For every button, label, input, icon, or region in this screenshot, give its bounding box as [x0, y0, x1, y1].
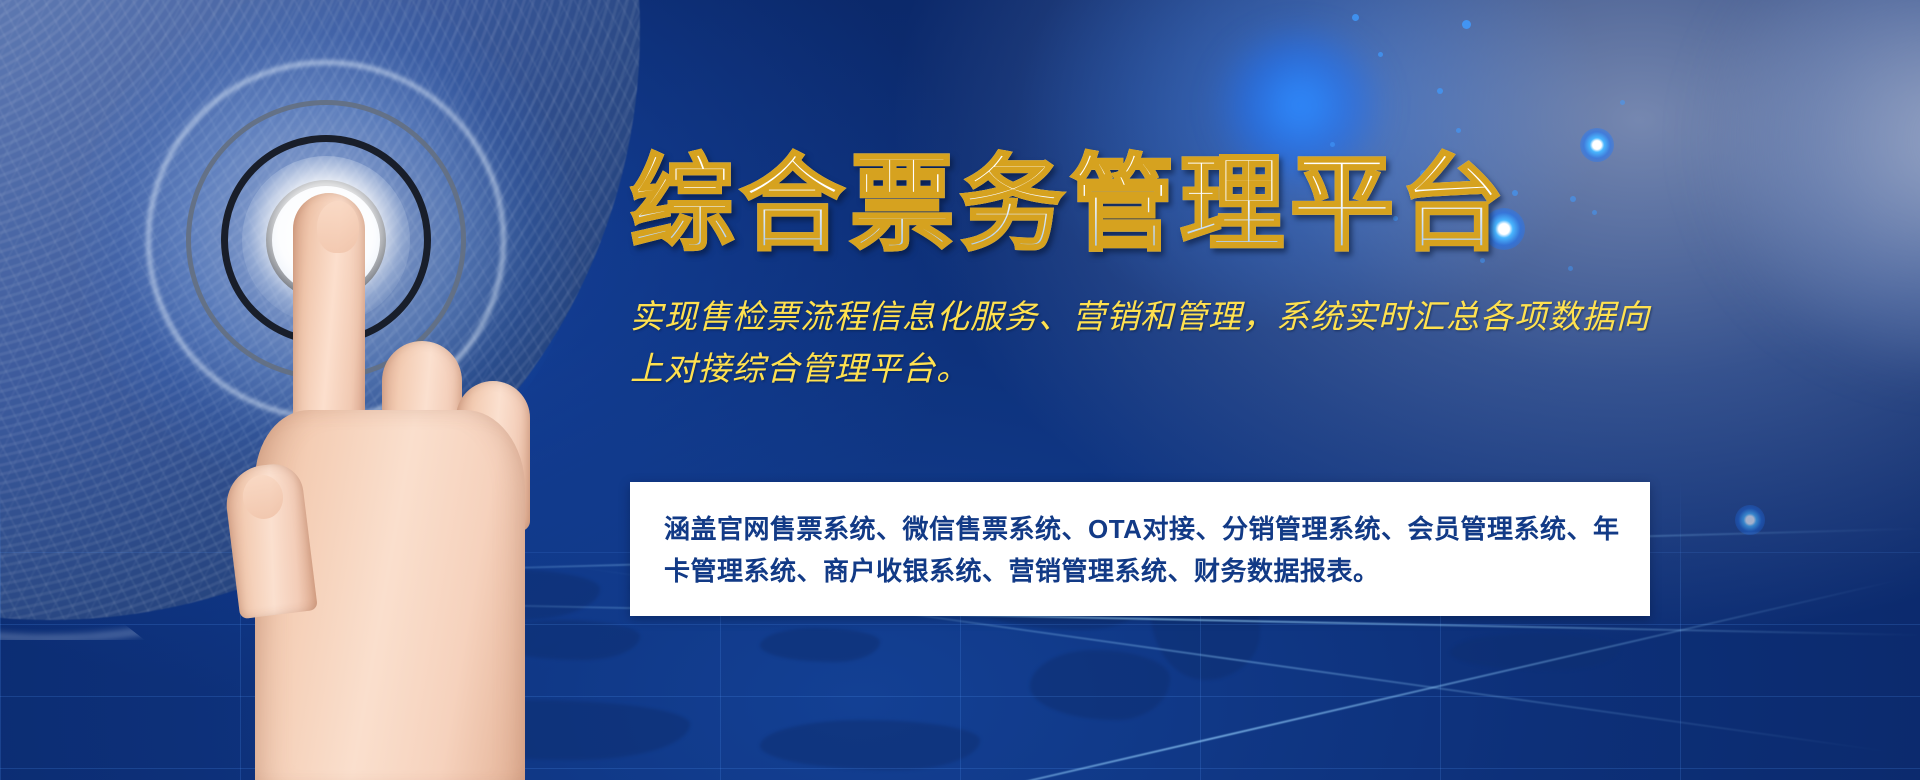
index-fingernail — [317, 201, 359, 253]
feature-card-text: 涵盖官网售票系统、微信售票系统、OTA对接、分销管理系统、会员管理系统、年卡管理… — [664, 508, 1620, 592]
glow-particle — [1735, 505, 1765, 535]
page-subtitle: 实现售检票流程信息化服务、营销和管理，系统实时汇总各项数据向上对接综合管理平台。 — [630, 292, 1650, 396]
particle-dot — [1330, 142, 1335, 147]
particle-dot — [1620, 100, 1625, 105]
hero-text-block: 综合票务管理平台 实现售检票流程信息化服务、营销和管理，系统实时汇总各项数据向上… — [630, 150, 1690, 397]
feature-card: 涵盖官网售票系统、微信售票系统、OTA对接、分销管理系统、会员管理系统、年卡管理… — [630, 482, 1650, 616]
particle-dot — [1378, 52, 1383, 57]
particle-dot — [1352, 14, 1359, 21]
bokeh-glow — [1700, 0, 1920, 370]
page-title: 综合票务管理平台 — [630, 150, 1690, 262]
hero-banner: 综合票务管理平台 实现售检票流程信息化服务、营销和管理，系统实时汇总各项数据向上… — [0, 0, 1920, 780]
particle-dot — [1437, 88, 1443, 94]
particle-dot — [1456, 128, 1461, 133]
pointing-hand-icon — [175, 185, 605, 780]
particle-dot — [1462, 20, 1471, 29]
